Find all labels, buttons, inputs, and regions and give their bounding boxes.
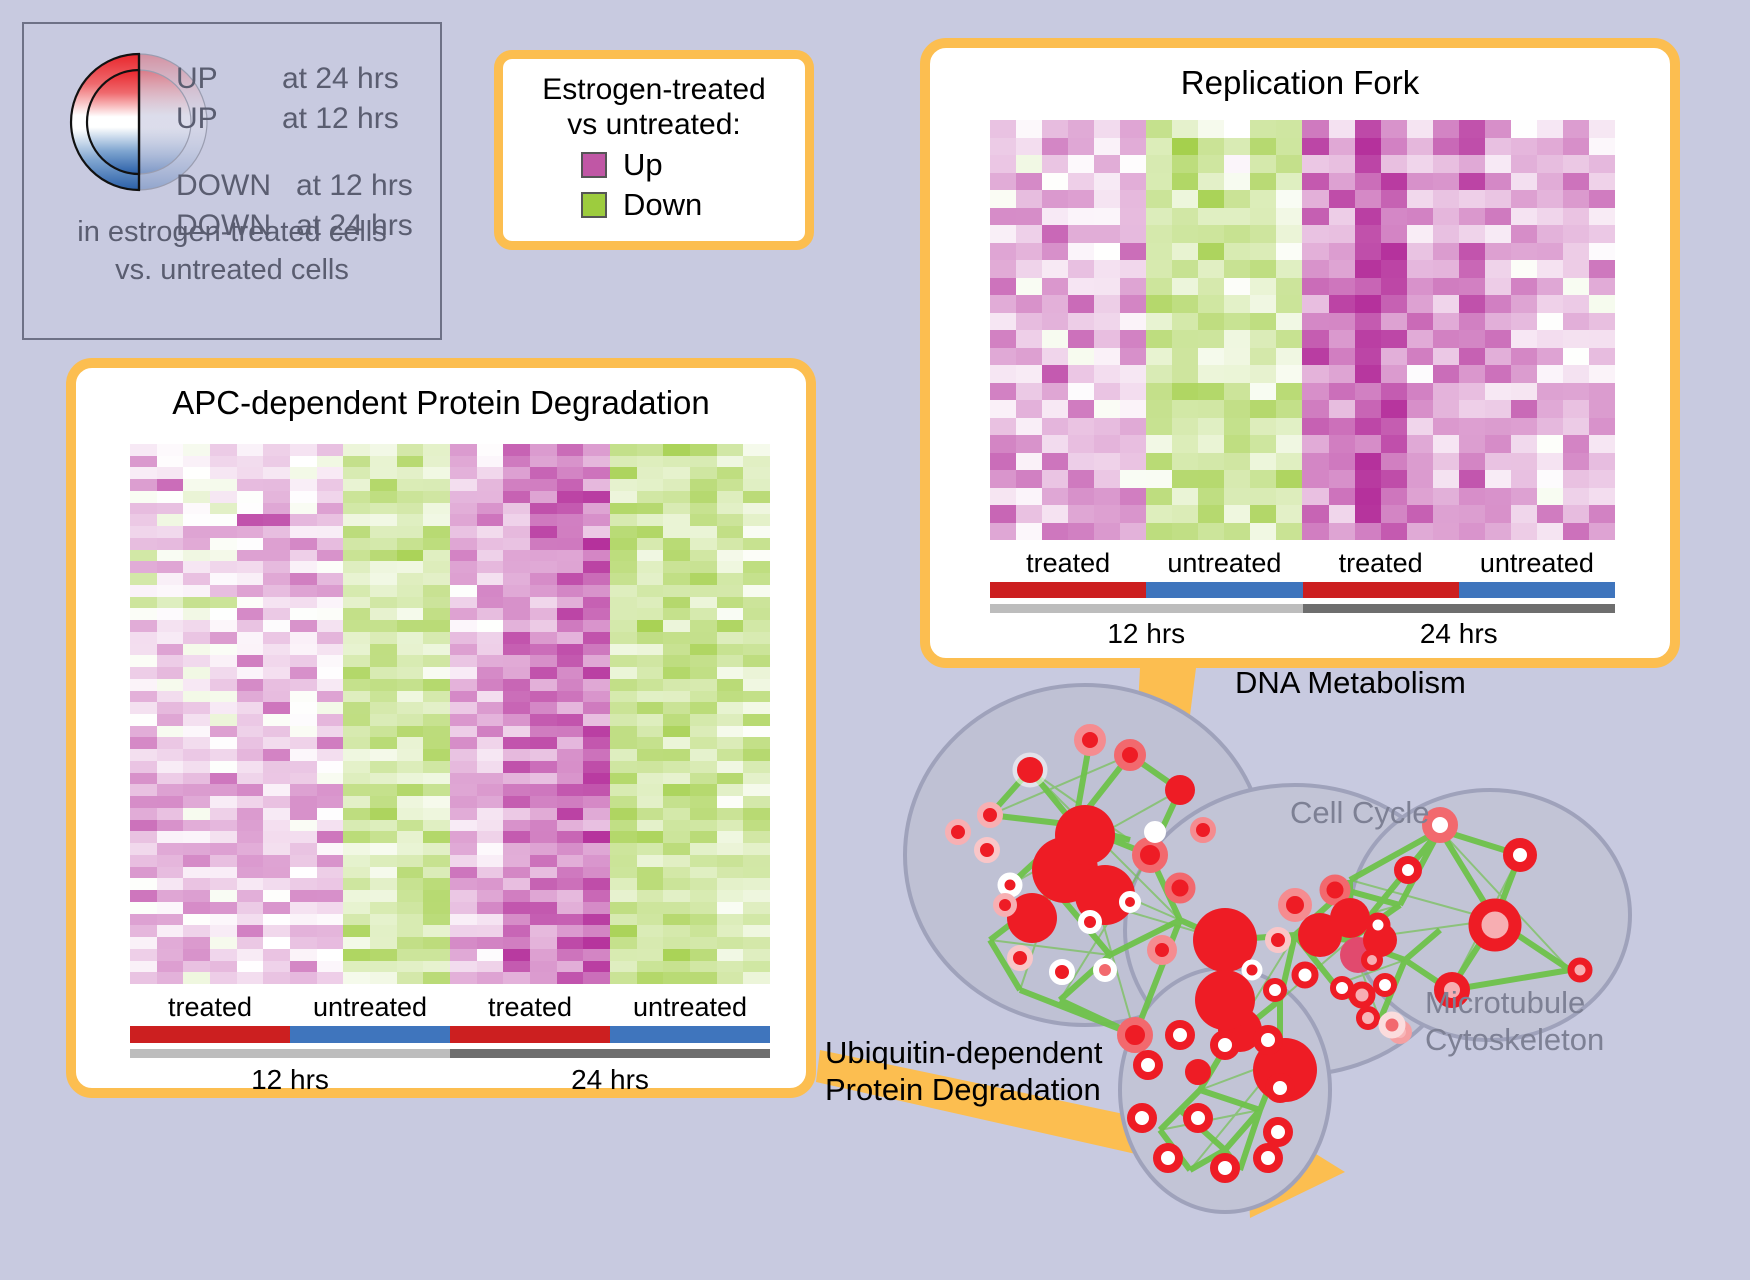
heatmap-cell <box>1120 225 1146 243</box>
heatmap-cell <box>1433 505 1459 523</box>
heatmap-cell <box>1146 470 1172 488</box>
heatmap-cell <box>557 620 584 632</box>
heatmap-cell <box>1146 295 1172 313</box>
heatmap-cell <box>530 937 557 949</box>
heatmap-cell <box>1198 470 1224 488</box>
heatmap-cell <box>610 679 637 691</box>
heatmap-cell <box>1224 225 1250 243</box>
heatmap-cell <box>397 796 424 808</box>
heatmap-cell <box>663 632 690 644</box>
heatmap-cell <box>1511 505 1537 523</box>
heatmap-cell <box>637 714 664 726</box>
heatmap-cell <box>1120 488 1146 506</box>
heatmap-cell <box>637 808 664 820</box>
heatmap-cell <box>1250 400 1276 418</box>
heatmap-cell <box>663 914 690 926</box>
heatmap-cell <box>637 949 664 961</box>
heatmap-cell <box>183 773 210 785</box>
heatmap-cell <box>1198 523 1224 541</box>
heatmap-cell <box>1355 400 1381 418</box>
heatmap-cell <box>1381 365 1407 383</box>
heatmap-cell <box>530 514 557 526</box>
heatmap-cell <box>1302 173 1328 191</box>
heatmap-cell <box>130 632 157 644</box>
heatmap-cell <box>663 749 690 761</box>
heatmap-cell <box>583 714 610 726</box>
heatmap-cell <box>157 608 184 620</box>
heatmap-cell <box>423 467 450 479</box>
heatmap-cell <box>1459 260 1485 278</box>
heatmap-cell <box>530 491 557 503</box>
heatmap-cell <box>663 479 690 491</box>
heatmap-cell <box>717 937 744 949</box>
heatmap-cell <box>450 714 477 726</box>
heatmap-cell <box>1224 278 1250 296</box>
heatmap-cell <box>637 925 664 937</box>
heatmap-cell <box>1381 190 1407 208</box>
heatmap-cell <box>1355 435 1381 453</box>
heatmap-cell <box>263 914 290 926</box>
heatmap-cell <box>263 491 290 503</box>
heatmap-cell <box>1485 155 1511 173</box>
heatmap-cell <box>610 620 637 632</box>
heatmap-cell <box>990 330 1016 348</box>
heatmap-cell <box>317 914 344 926</box>
heatmap-cell <box>290 655 317 667</box>
cluster-label-microtubule-line1: Microtubule <box>1425 985 1604 1022</box>
heatmap-cell <box>1094 278 1120 296</box>
heatmap-cell <box>1302 330 1328 348</box>
heatmap-cell <box>990 138 1016 156</box>
heatmap-cell <box>637 796 664 808</box>
heatmap-cell <box>583 538 610 550</box>
heatmap-cell <box>990 365 1016 383</box>
heatmap-cell <box>610 667 637 679</box>
treatment-bar-replication-fork <box>990 582 1615 598</box>
heatmap-cell <box>343 573 370 585</box>
heatmap-cell <box>343 820 370 832</box>
heatmap-cell <box>1250 365 1276 383</box>
heatmap-cell <box>1381 488 1407 506</box>
heatmap-cell <box>663 667 690 679</box>
heatmap-cell <box>1250 155 1276 173</box>
heatmap-cell <box>1198 243 1224 261</box>
heatmap-cell <box>610 925 637 937</box>
heatmap-cell <box>450 961 477 973</box>
heatmap-cell <box>343 679 370 691</box>
heatmap-cell <box>503 820 530 832</box>
heatmap-cell <box>690 597 717 609</box>
time-label-apc-12: 12 hrs <box>130 1064 450 1096</box>
heatmap-cell <box>557 914 584 926</box>
heatmap-cell <box>503 667 530 679</box>
heatmap-cell <box>1172 313 1198 331</box>
heatmap-cell <box>1068 470 1094 488</box>
heatmap-cell <box>210 831 237 843</box>
heatmap-cell <box>610 749 637 761</box>
heatmap-cell <box>1407 435 1433 453</box>
heatmap-cell <box>1016 523 1042 541</box>
heatmap-cell <box>290 667 317 679</box>
heatmap-cell <box>503 972 530 984</box>
heatmap-cell <box>1198 453 1224 471</box>
heatmap-cell <box>637 479 664 491</box>
heatmap-cell <box>1589 348 1615 366</box>
heatmap-cell <box>1042 313 1068 331</box>
heatmap-cell <box>743 808 770 820</box>
heatmap-cell <box>610 867 637 879</box>
heatmap-cell <box>130 667 157 679</box>
heatmap-cell <box>557 937 584 949</box>
heatmap-cell <box>1016 260 1042 278</box>
heatmap-cell <box>397 514 424 526</box>
heatmap-cell <box>557 456 584 468</box>
heatmap-cell <box>210 890 237 902</box>
heatmap-cell <box>1172 505 1198 523</box>
heatmap-cell <box>1094 120 1120 138</box>
legend-item-up: Up <box>581 147 805 183</box>
heatmap-cell <box>183 467 210 479</box>
heatmap-cell <box>397 820 424 832</box>
heatmap-cell <box>1172 488 1198 506</box>
heatmap-cell <box>290 597 317 609</box>
heatmap-cell <box>1276 190 1302 208</box>
heatmap-cell <box>1589 138 1615 156</box>
heatmap-cell <box>370 761 397 773</box>
heatmap-cell <box>183 761 210 773</box>
heatmap-cell <box>237 503 264 515</box>
heatmap-cell <box>477 937 504 949</box>
heatmap-cell <box>130 902 157 914</box>
heatmap-cell <box>450 925 477 937</box>
heatmap-cell <box>743 503 770 515</box>
heatmap-cell <box>130 737 157 749</box>
heatmap-cell <box>503 679 530 691</box>
heatmap-cell <box>477 902 504 914</box>
heatmap-cell <box>237 937 264 949</box>
heatmap-cell <box>290 773 317 785</box>
heatmap-cell <box>1381 138 1407 156</box>
heatmap-cell <box>1329 225 1355 243</box>
heatmap-cell <box>1589 208 1615 226</box>
heatmap-cell <box>557 773 584 785</box>
heatmap-cell <box>1537 155 1563 173</box>
heatmap-cell <box>503 608 530 620</box>
heatmap-cell <box>1459 278 1485 296</box>
heatmap-cell <box>1042 400 1068 418</box>
key-time-down-12: at 12 hrs <box>296 169 413 203</box>
heatmap-cell <box>157 456 184 468</box>
heatmap-cell <box>263 890 290 902</box>
heatmap-cell <box>1459 365 1485 383</box>
heatmap-cell <box>1381 225 1407 243</box>
heatmap-cell <box>130 608 157 620</box>
heatmap-cell <box>1589 470 1615 488</box>
heatmap-cell <box>450 902 477 914</box>
heatmap-cell <box>1407 418 1433 436</box>
heatmap-cell <box>317 514 344 526</box>
heatmap-cell <box>370 843 397 855</box>
heatmap-cell <box>583 761 610 773</box>
heatmap-cell <box>663 620 690 632</box>
heatmap-cell <box>1355 365 1381 383</box>
heatmap-cell <box>743 761 770 773</box>
heatmap-cell <box>1355 225 1381 243</box>
heatmap-cell <box>1537 523 1563 541</box>
heatmap-cell <box>237 784 264 796</box>
heatmap-cell <box>1276 453 1302 471</box>
heatmap-cell <box>557 479 584 491</box>
heatmap-cell <box>290 644 317 656</box>
heatmap-cell <box>583 972 610 984</box>
heatmap-cell <box>503 467 530 479</box>
heatmap-cell <box>370 949 397 961</box>
heatmap-cell <box>263 714 290 726</box>
heatmap-cell <box>1381 470 1407 488</box>
heatmap-cell <box>1407 523 1433 541</box>
heatmap-cell <box>1016 470 1042 488</box>
heatmap-cell <box>637 773 664 785</box>
heatmap-cell <box>343 550 370 562</box>
heatmap-cell <box>477 538 504 550</box>
heatmap-cell <box>210 679 237 691</box>
heatmap-cell <box>157 773 184 785</box>
heatmap-cell <box>1172 138 1198 156</box>
heatmap-cell <box>237 538 264 550</box>
heatmap-cell <box>583 726 610 738</box>
heatmap-cell <box>583 878 610 890</box>
heatmap-cell <box>210 925 237 937</box>
cluster-label-cell-cycle: Cell Cycle <box>1290 795 1430 831</box>
heatmap-cell <box>263 479 290 491</box>
heatmap-cell <box>343 961 370 973</box>
heatmap-cell <box>610 820 637 832</box>
heatmap-cell <box>343 561 370 573</box>
heatmap-cell <box>610 855 637 867</box>
heatmap-cell <box>263 749 290 761</box>
heatmap-cell <box>183 749 210 761</box>
heatmap-cell <box>557 526 584 538</box>
heatmap-cell <box>317 843 344 855</box>
heatmap-cell <box>157 691 184 703</box>
heatmap-cell <box>450 491 477 503</box>
heatmap-cell <box>1459 435 1485 453</box>
heatmap-cell <box>183 726 210 738</box>
heatmap-cell <box>663 526 690 538</box>
heatmap-cell <box>557 597 584 609</box>
heatmap-cell <box>370 456 397 468</box>
heatmap-cell <box>1068 278 1094 296</box>
heatmap-cell <box>1068 435 1094 453</box>
heatmap-cell <box>1042 173 1068 191</box>
heatmap-cell <box>717 890 744 902</box>
heatmap-cell <box>183 503 210 515</box>
heatmap-cell <box>503 444 530 456</box>
heatmap-cell <box>370 808 397 820</box>
heatmap-cell <box>503 644 530 656</box>
legend-title: Estrogen-treated vs untreated: <box>503 59 805 143</box>
heatmap-cell <box>317 467 344 479</box>
heatmap-cell <box>1094 505 1120 523</box>
heatmap-cell <box>663 503 690 515</box>
heatmap-cell <box>1198 505 1224 523</box>
heatmap-cell <box>743 632 770 644</box>
heatmap-cell <box>1094 138 1120 156</box>
heatmap-cell <box>183 867 210 879</box>
heatmap-cell <box>503 491 530 503</box>
heatmap-cell <box>343 714 370 726</box>
heatmap-cell <box>1250 488 1276 506</box>
heatmap-cell <box>557 855 584 867</box>
heatmap-cell <box>1120 453 1146 471</box>
heatmap-cell <box>663 784 690 796</box>
heatmap-cell <box>743 573 770 585</box>
heatmap-cell <box>450 679 477 691</box>
heatmap-cell <box>530 444 557 456</box>
heatmap-cell <box>1120 418 1146 436</box>
heatmap-cell <box>1016 313 1042 331</box>
heatmap-cell <box>637 737 664 749</box>
time-label-apc-24: 24 hrs <box>450 1064 770 1096</box>
heatmap-cell <box>1068 260 1094 278</box>
heatmap-cell <box>290 561 317 573</box>
heatmap-cell <box>1563 488 1589 506</box>
heatmap-cell <box>637 632 664 644</box>
heatmap-cell <box>1355 313 1381 331</box>
heatmap-cell <box>1485 260 1511 278</box>
heatmap-cell <box>583 585 610 597</box>
heatmap-cell <box>450 867 477 879</box>
heatmap-cell <box>663 655 690 667</box>
heatmap-cell <box>370 714 397 726</box>
heatmap-cell <box>503 573 530 585</box>
heatmap-cell <box>530 479 557 491</box>
heatmap-cell <box>477 691 504 703</box>
heatmap-cell <box>583 773 610 785</box>
heatmap-cell <box>1329 208 1355 226</box>
heatmap-cell <box>610 644 637 656</box>
heatmap-cell <box>237 491 264 503</box>
heatmap-cell <box>717 585 744 597</box>
heatmap-cell <box>1250 313 1276 331</box>
heatmap-cell <box>343 808 370 820</box>
heatmap-cell <box>1485 173 1511 191</box>
heatmap-cell <box>397 561 424 573</box>
heatmap-cell <box>1563 383 1589 401</box>
heatmap-cell <box>1459 488 1485 506</box>
heatmap-cell <box>290 608 317 620</box>
heatmap-cell <box>610 714 637 726</box>
heatmap-cell <box>610 914 637 926</box>
heatmap-cell <box>397 456 424 468</box>
heatmap-cell <box>1146 330 1172 348</box>
cluster-label-ubiquitin-dependent-protein-degradation: Ubiquitin-dependent Protein Degradation <box>825 1035 1103 1108</box>
heatmap-cell <box>343 691 370 703</box>
heatmap-cell <box>1016 383 1042 401</box>
heatmap-cell <box>1355 348 1381 366</box>
heatmap-cell <box>583 561 610 573</box>
heatmap-cell <box>503 949 530 961</box>
heatmap-cell <box>1224 120 1250 138</box>
heatmap-cell <box>1302 523 1328 541</box>
heatmap-cell <box>1172 208 1198 226</box>
heatmap-cell <box>690 691 717 703</box>
heatmap-cell <box>717 503 744 515</box>
heatmap-cell <box>743 491 770 503</box>
heatmap-cell <box>210 867 237 879</box>
heatmap-cell <box>637 467 664 479</box>
heatmap-cell <box>1563 120 1589 138</box>
heatmap-cell <box>317 644 344 656</box>
heatmap-cell <box>263 867 290 879</box>
heatmap-cell <box>743 972 770 984</box>
heatmap-cell <box>690 714 717 726</box>
heatmap-cell <box>503 702 530 714</box>
heatmap-cell <box>583 914 610 926</box>
heatmap-cell <box>1172 453 1198 471</box>
heatmap-cell <box>477 855 504 867</box>
heatmap-cell <box>637 784 664 796</box>
heatmap-cell <box>237 890 264 902</box>
heatmap-cell <box>1120 173 1146 191</box>
heatmap-cell <box>1407 190 1433 208</box>
heatmap-cell <box>663 855 690 867</box>
heatmap-cell <box>423 538 450 550</box>
heatmap-cell <box>557 667 584 679</box>
heatmap-cell <box>663 796 690 808</box>
heatmap-cell <box>1250 418 1276 436</box>
heatmap-cell <box>530 597 557 609</box>
heatmap-cell <box>1016 138 1042 156</box>
heatmap-cell <box>397 949 424 961</box>
heatmap-cell <box>1016 173 1042 191</box>
heatmap-cell <box>1407 120 1433 138</box>
heatmap-cell <box>1381 313 1407 331</box>
heatmap-cell <box>1459 348 1485 366</box>
heatmap-cell <box>210 644 237 656</box>
heatmap-cell <box>637 655 664 667</box>
heatmap-cell <box>397 890 424 902</box>
heatmap-cell <box>717 444 744 456</box>
heatmap-cell <box>1068 208 1094 226</box>
figure-canvas: UP at 24 hrs UP at 12 hrs DOWN at 12 hrs… <box>0 0 1750 1279</box>
heatmap-cell <box>237 573 264 585</box>
heatmap-cell <box>450 467 477 479</box>
heatmap-cell <box>1407 225 1433 243</box>
heatmap-cell <box>1250 243 1276 261</box>
heatmap-cell <box>610 961 637 973</box>
heatmap-cell <box>637 514 664 526</box>
key-word-down-12: DOWN <box>176 169 271 203</box>
heatmap-cell <box>1589 173 1615 191</box>
heatmap-cell <box>583 620 610 632</box>
heatmap-cell <box>343 444 370 456</box>
heatmap-cell <box>743 702 770 714</box>
heatmap-cell <box>210 820 237 832</box>
heatmap-cell <box>397 691 424 703</box>
heatmap-cell <box>1120 365 1146 383</box>
heatmap-cell <box>1381 523 1407 541</box>
heatmap-cell <box>1381 348 1407 366</box>
heatmap-cell <box>477 655 504 667</box>
heatmap-cell <box>450 444 477 456</box>
panel-title-replication-fork: Replication Fork <box>930 64 1670 102</box>
heatmap-cell <box>717 914 744 926</box>
heatmap-cell <box>557 902 584 914</box>
heatmap-cell <box>237 949 264 961</box>
heatmap-cell <box>343 796 370 808</box>
heatmap-cell <box>1224 523 1250 541</box>
